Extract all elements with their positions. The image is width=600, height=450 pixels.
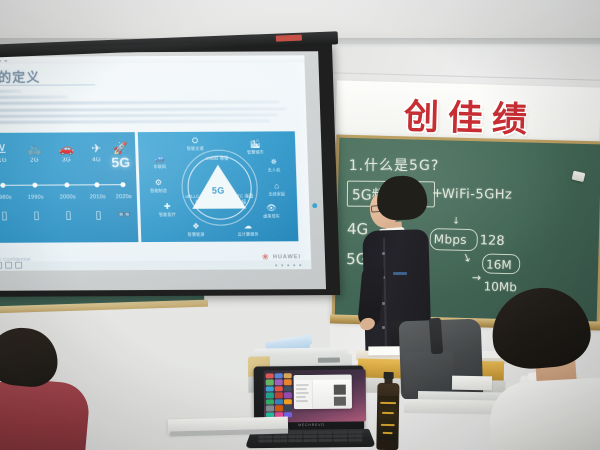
use-case-panel: 5G eMBB 增强 uRLLC 低时延 mMTC 海量连接 ⛭ 智能交通 🏙 …: [138, 131, 299, 242]
use-case-label: 云计算服务: [237, 231, 259, 237]
robot-arm-icon: ⚙: [147, 178, 169, 187]
laptop-brand-text: MECHREVO: [298, 423, 325, 427]
screen-pointer-dot: [312, 203, 317, 208]
keyboard-key[interactable]: [311, 439, 318, 442]
cloud-icon: ☁: [237, 221, 259, 230]
chalk-arrow-down-icon: ↓: [452, 217, 460, 227]
chalk-arrow-right-icon: →: [472, 271, 482, 284]
home-icon: ⌂: [265, 181, 287, 190]
car-icon: 🚗: [51, 142, 81, 155]
triangle-center-label: 5G: [208, 186, 228, 196]
bottle-cap[interactable]: [384, 372, 394, 379]
use-case-car: 🚙 车联网: [148, 154, 171, 170]
app-icon[interactable]: [284, 386, 292, 392]
vr-icon: 👁: [260, 203, 282, 212]
projection-screen-surface: 5G的定义 ⊻ 1G 🚲: [0, 51, 326, 291]
student-white-shirt: [488, 377, 600, 450]
desktop-window[interactable]: [294, 375, 352, 410]
triangle-tag-embb: eMBB 增强: [204, 156, 230, 162]
banner-text: 创佳绩: [399, 88, 536, 143]
app-icon[interactable]: [284, 405, 292, 411]
use-case-energy: ❖ 智慧能源: [185, 222, 208, 238]
use-case-home: ⌂ 无线家庭: [265, 181, 288, 197]
student-bottom-left: [0, 328, 104, 450]
connected-car-icon: 🚙: [148, 154, 170, 163]
keyboard-key[interactable]: [341, 431, 348, 434]
keyboard-key[interactable]: [288, 439, 295, 442]
projection-screen-assembly: 5G的定义 ⊻ 1G 🚲: [0, 43, 340, 297]
device-icon: ▯: [0, 209, 20, 222]
student-bottom-left-shirt: [0, 375, 91, 450]
backpack-strap: [429, 318, 443, 355]
keyboard-key[interactable]: [258, 439, 265, 442]
keyboard-key[interactable]: [266, 439, 273, 442]
generation-year: 2000s: [53, 194, 83, 200]
generation-column: 🚗 3G: [51, 142, 82, 163]
app-icon[interactable]: [266, 399, 274, 405]
app-icon-grid[interactable]: [265, 372, 293, 418]
roller-label-icon: [276, 35, 302, 42]
triangle-tag-mmtc: mMTC 海量连接: [228, 193, 254, 205]
keyboard-key[interactable]: [303, 439, 310, 442]
generation-label: 3G: [52, 157, 82, 163]
generation-label-5g: 5G: [105, 154, 136, 170]
use-case-manufacturing: ⚙ 智能制造: [147, 178, 170, 194]
printer-control-panel[interactable]: [318, 357, 340, 362]
use-case-label: 智慧能源: [185, 231, 207, 237]
generation-label: 1G: [0, 158, 18, 164]
app-icon[interactable]: [284, 380, 292, 386]
medical-icon: ✚: [156, 202, 178, 211]
keyboard-key[interactable]: [273, 439, 280, 442]
laptop[interactable]: MECHREVO: [248, 365, 373, 450]
app-icon[interactable]: [284, 392, 292, 398]
keyboard-key[interactable]: [326, 439, 333, 442]
generation-year: 1980s: [0, 195, 19, 201]
classroom-photo: 创佳绩 1.什么是5G? 5G频段 + WiFi-5GHz 4G 5G ↓ Mb…: [0, 0, 600, 450]
keyboard-key[interactable]: [341, 435, 348, 438]
traffic-icon: ⛭: [184, 136, 206, 145]
generation-column: 🚀 5G: [105, 142, 136, 170]
drone-icon: ✵: [263, 157, 285, 166]
chalk-circle-16m: [482, 253, 521, 274]
beverage-bottle[interactable]: [376, 372, 399, 450]
use-case-label: 智能制造: [148, 187, 170, 193]
keyboard-key[interactable]: [258, 435, 265, 438]
app-icon[interactable]: [275, 380, 283, 386]
chalk-wifi-band: WiFi-5GHz: [442, 187, 513, 203]
student-foreground: [486, 288, 600, 450]
slide-title-underline: [0, 84, 95, 86]
keyboard-key[interactable]: [296, 439, 303, 442]
keyboard-key[interactable]: [333, 439, 340, 442]
use-case-label: 无人机: [263, 167, 285, 173]
generation-column: ⊻ 1G: [0, 143, 18, 164]
content-thumbnail[interactable]: [334, 385, 346, 395]
student-hair: [489, 284, 594, 372]
app-icon[interactable]: [275, 405, 283, 411]
content-thumbnail[interactable]: [334, 397, 346, 406]
city-icon: 🏙: [244, 139, 266, 148]
device-icon: ▯: [53, 208, 83, 221]
generation-year: 1990s: [21, 195, 51, 201]
keyboard-key[interactable]: [296, 435, 303, 438]
use-case-traffic: ⛭ 智能交通: [184, 136, 207, 152]
keyboard-key[interactable]: [326, 431, 333, 434]
slide-infographic: ⊻ 1G 🚲 2G 🚗 3G ✈ 4G: [0, 131, 298, 243]
use-case-label: 智能医疗: [156, 211, 178, 217]
keyboard-key[interactable]: [333, 435, 340, 438]
triangle-tag-urllc: uRLLC 低时延: [184, 194, 210, 206]
jacket-pocket-label: [393, 272, 407, 275]
chalk-arrow-diagonal-icon: ↘: [460, 250, 474, 266]
keyboard-key[interactable]: [303, 435, 310, 438]
ox-cart-icon: ⊻: [0, 143, 17, 156]
keyboard-key[interactable]: [341, 438, 348, 441]
energy-icon: ❖: [185, 222, 207, 231]
slide-taskbar[interactable]: [0, 260, 311, 271]
vr-glasses-icon: 👓: [109, 208, 139, 221]
keyboard-key[interactable]: [318, 439, 325, 442]
generation-timeline-panel: ⊻ 1G 🚲 2G 🚗 3G ✈ 4G: [0, 132, 138, 243]
keyboard-key[interactable]: [288, 435, 295, 438]
keyboard-key[interactable]: [356, 434, 363, 437]
chalk-value-128: 128: [480, 233, 505, 249]
presentation-slide: 5G的定义 ⊻ 1G 🚲: [0, 55, 311, 271]
keyboard-key[interactable]: [296, 431, 303, 434]
use-case-cloud: ☁ 云计算服务: [237, 221, 260, 237]
app-icon[interactable]: [275, 386, 283, 392]
chalk-question: 1.什么是5G?: [349, 155, 440, 175]
backpack-pocket: [403, 351, 454, 393]
use-case-label: 智能交通: [184, 145, 206, 151]
keyboard-key[interactable]: [326, 435, 333, 438]
keyboard-key[interactable]: [356, 438, 363, 441]
use-case-city: 🏙 智慧城市: [244, 139, 267, 155]
app-icon[interactable]: [275, 399, 283, 405]
generation-year: 2020s: [109, 194, 139, 200]
keyboard-key[interactable]: [318, 435, 325, 438]
app-icon[interactable]: [266, 406, 274, 412]
chalk-value-16m: 16M: [486, 257, 512, 272]
keyboard-key[interactable]: [348, 434, 355, 437]
app-icon[interactable]: [284, 373, 292, 379]
keyboard-key[interactable]: [273, 435, 280, 438]
app-icon[interactable]: [275, 373, 283, 379]
keyboard-key[interactable]: [318, 431, 325, 434]
keyboard-key[interactable]: [281, 439, 288, 442]
use-case-label: 智慧城市: [244, 149, 266, 155]
bicycle-icon: 🚲: [19, 143, 49, 156]
use-case-label: 虚拟现实: [260, 213, 282, 219]
blackboard-eraser-icon[interactable]: [572, 171, 586, 183]
app-icon[interactable]: [266, 380, 274, 386]
app-icon[interactable]: [284, 399, 292, 405]
use-case-drone: ✵ 无人机: [263, 157, 286, 173]
generation-column: 🚲 2G: [19, 143, 50, 164]
keyboard-key[interactable]: [311, 435, 318, 438]
use-case-label: 车联网: [149, 163, 171, 169]
keyboard-key[interactable]: [356, 430, 363, 433]
slide-body-text: [0, 88, 293, 127]
laptop-screen[interactable]: [264, 369, 367, 422]
app-icon[interactable]: [266, 393, 274, 399]
keyboard-key[interactable]: [303, 431, 310, 434]
app-icon[interactable]: [266, 373, 274, 379]
use-case-label: 无线家庭: [266, 191, 288, 197]
slide-title: 5G的定义: [0, 67, 40, 86]
device-icon: ▯: [21, 209, 51, 222]
keyboard-key[interactable]: [266, 435, 273, 438]
keyboard-key[interactable]: [348, 431, 355, 434]
keyboard-key[interactable]: [288, 431, 295, 434]
presenter-hair: [376, 175, 428, 222]
student-bottom-left-hair: [0, 325, 61, 390]
generation-label: 2G: [20, 158, 50, 164]
keyboard-key[interactable]: [348, 438, 355, 441]
use-case-vr: 👁 虚拟现实: [260, 203, 283, 219]
app-icon[interactable]: [275, 393, 283, 399]
keyboard-key[interactable]: [333, 431, 340, 434]
keyboard-key[interactable]: [281, 435, 288, 438]
slide-window-chrome: [0, 55, 305, 64]
timeline-axis: [0, 184, 124, 186]
app-icon[interactable]: [266, 386, 274, 392]
use-case-medical: ✚ 智能医疗: [156, 202, 179, 218]
keyboard-key[interactable]: [311, 431, 318, 434]
